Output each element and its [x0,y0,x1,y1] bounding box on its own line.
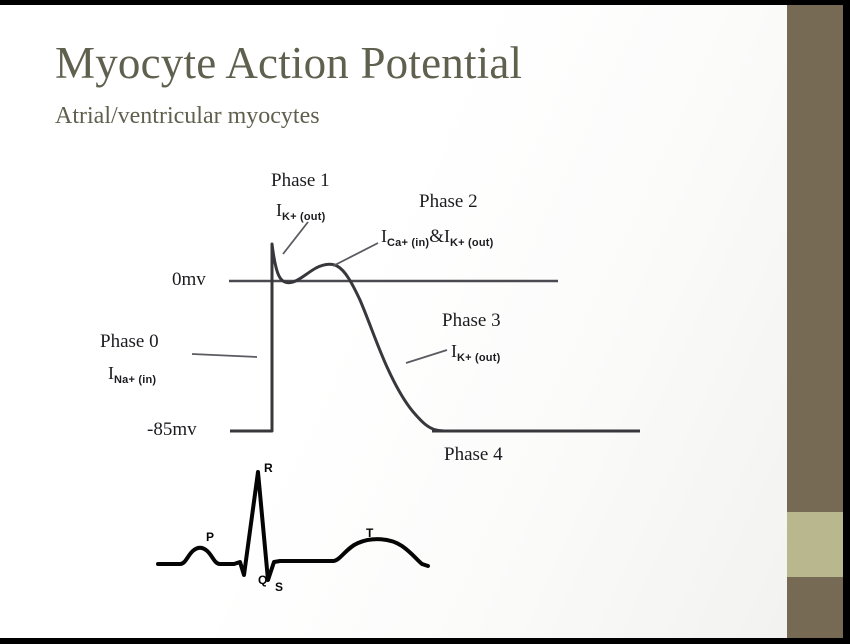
leader-line-phase2 [333,243,378,266]
ecg-label-q: Q [258,573,267,587]
action-potential-trace [272,244,455,431]
ecg-label-p: P [206,530,214,544]
action-potential-diagram: 0mv -85mv Phase 1 IK+ (out) Phase 2 ICa+… [0,0,787,633]
slide-right-border [843,0,850,644]
current-subscript: Na+ (in) [114,374,156,386]
current-label-phase-2: ICa+ (in)&IK+ (out) [381,226,493,248]
ecg-label-s: S [275,580,283,594]
conjunction: & [429,226,444,247]
leader-line-phase3 [406,350,447,363]
ecg-trace [158,472,428,580]
current-label-phase-1: IK+ (out) [276,200,325,221]
decorative-accent-block [787,512,843,577]
current-subscript: Ca+ (in) [387,237,429,249]
ecg-label-t: T [366,526,373,540]
slide: Myocyte Action Potential Atrial/ventricu… [0,0,850,644]
leader-line-phase1 [283,222,308,254]
axis-label-resting-mv: -85mv [147,419,197,441]
ecg-waveform-svg [150,458,450,598]
current-subscript: K+ (out) [457,352,500,364]
label-phase-3: Phase 3 [442,310,501,332]
ecg-label-r: R [264,461,273,475]
current-label-phase-3: IK+ (out) [451,341,500,362]
axis-label-zero-mv: 0mv [172,269,206,291]
label-phase-0: Phase 0 [100,331,159,353]
current-subscript: K+ (out) [282,211,325,223]
current-subscript-2: K+ (out) [450,237,493,249]
leader-line-phase0 [192,354,257,357]
current-label-phase-0: INa+ (in) [108,363,156,384]
label-phase-2: Phase 2 [419,191,478,213]
label-phase-1: Phase 1 [271,170,330,192]
label-phase-4: Phase 4 [444,444,503,466]
